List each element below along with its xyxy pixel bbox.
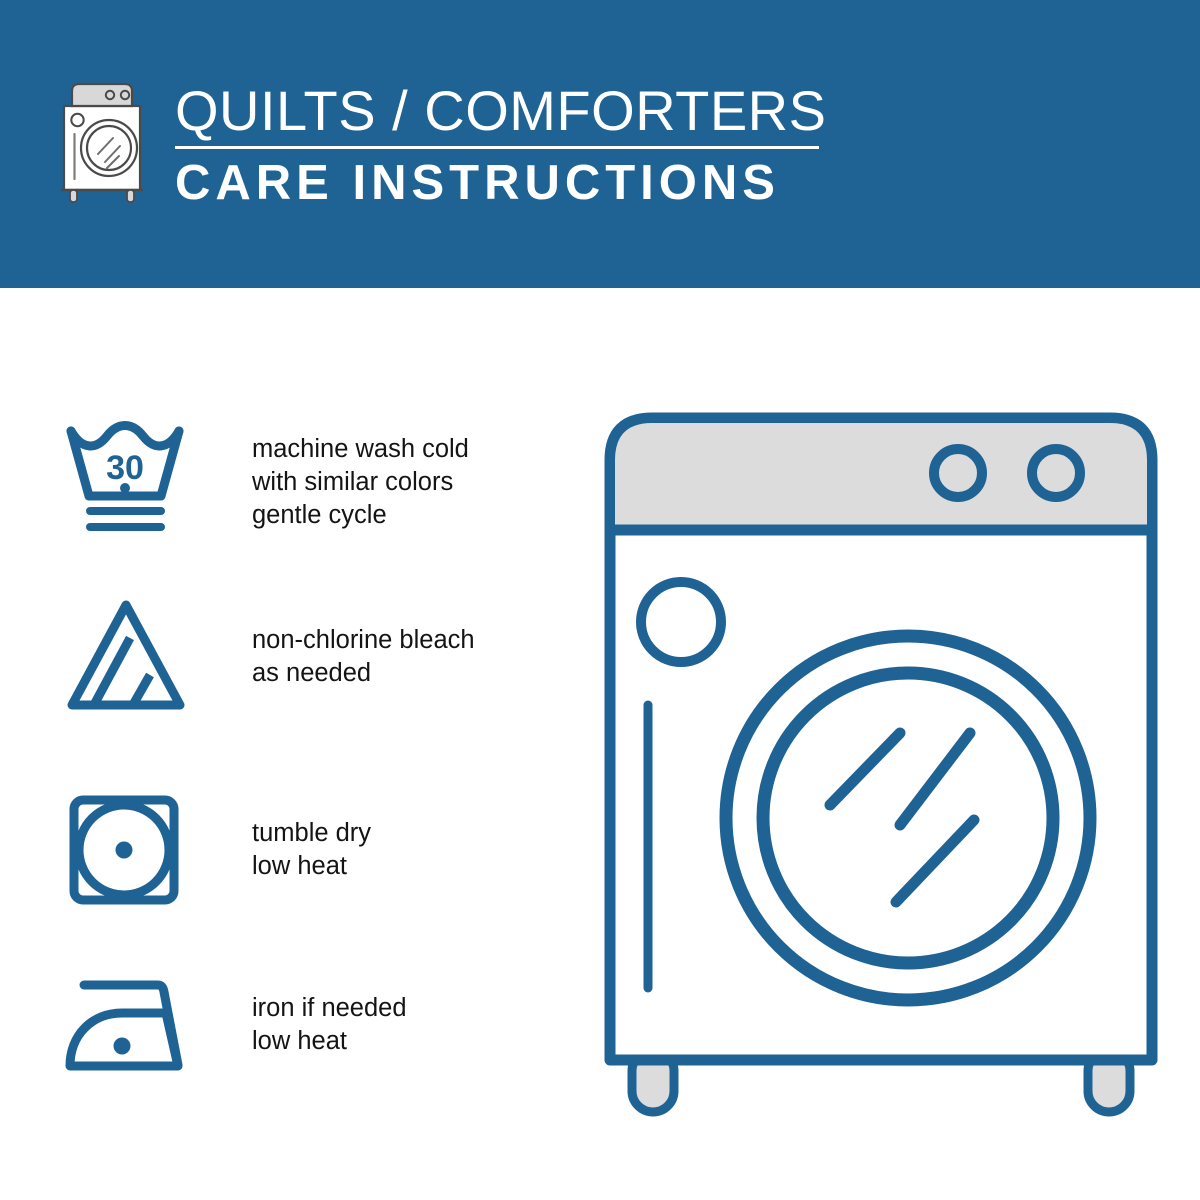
page-title: QUILTS / COMFORTERS bbox=[175, 80, 826, 142]
dry-heat-dot-icon bbox=[116, 842, 133, 859]
care-label-iron: iron if needed low heat bbox=[252, 992, 407, 1058]
washing-machine-icon bbox=[55, 78, 157, 204]
care-label-bleach: non-chlorine bleach as needed bbox=[252, 624, 475, 690]
wash-dot-icon bbox=[120, 483, 130, 493]
care-instruction-list: 30 machine wash cold with similar colors… bbox=[0, 288, 560, 1200]
wash-temperature-value: 30 bbox=[106, 449, 144, 487]
care-row-tumble-dry: tumble dry low heat bbox=[62, 788, 532, 912]
care-row-iron: iron if needed low heat bbox=[62, 963, 532, 1087]
care-row-machine-wash: 30 machine wash cold with similar colors… bbox=[62, 420, 532, 544]
iron-heat-dot-icon bbox=[114, 1038, 131, 1055]
washing-machine-illustration bbox=[596, 400, 1166, 1120]
triangle-non-chlorine-bleach-icon bbox=[62, 595, 190, 719]
header-content: QUILTS / COMFORTERS CARE INSTRUCTIONS bbox=[55, 78, 826, 210]
care-row-bleach: non-chlorine bleach as needed bbox=[62, 595, 532, 719]
tumble-dry-low-heat-icon bbox=[62, 788, 190, 912]
care-label-tumble-dry: tumble dry low heat bbox=[252, 817, 371, 883]
header-banner: QUILTS / COMFORTERS CARE INSTRUCTIONS bbox=[0, 0, 1200, 288]
washer-control-panel bbox=[615, 423, 1147, 530]
page-subtitle: CARE INSTRUCTIONS bbox=[175, 156, 826, 210]
iron-low-heat-icon bbox=[62, 963, 190, 1087]
care-label-machine-wash: machine wash cold with similar colors ge… bbox=[252, 433, 469, 532]
title-divider bbox=[175, 146, 819, 149]
wash-basin-30-gentle-icon: 30 bbox=[62, 420, 190, 544]
header-title-group: QUILTS / COMFORTERS CARE INSTRUCTIONS bbox=[175, 78, 826, 210]
